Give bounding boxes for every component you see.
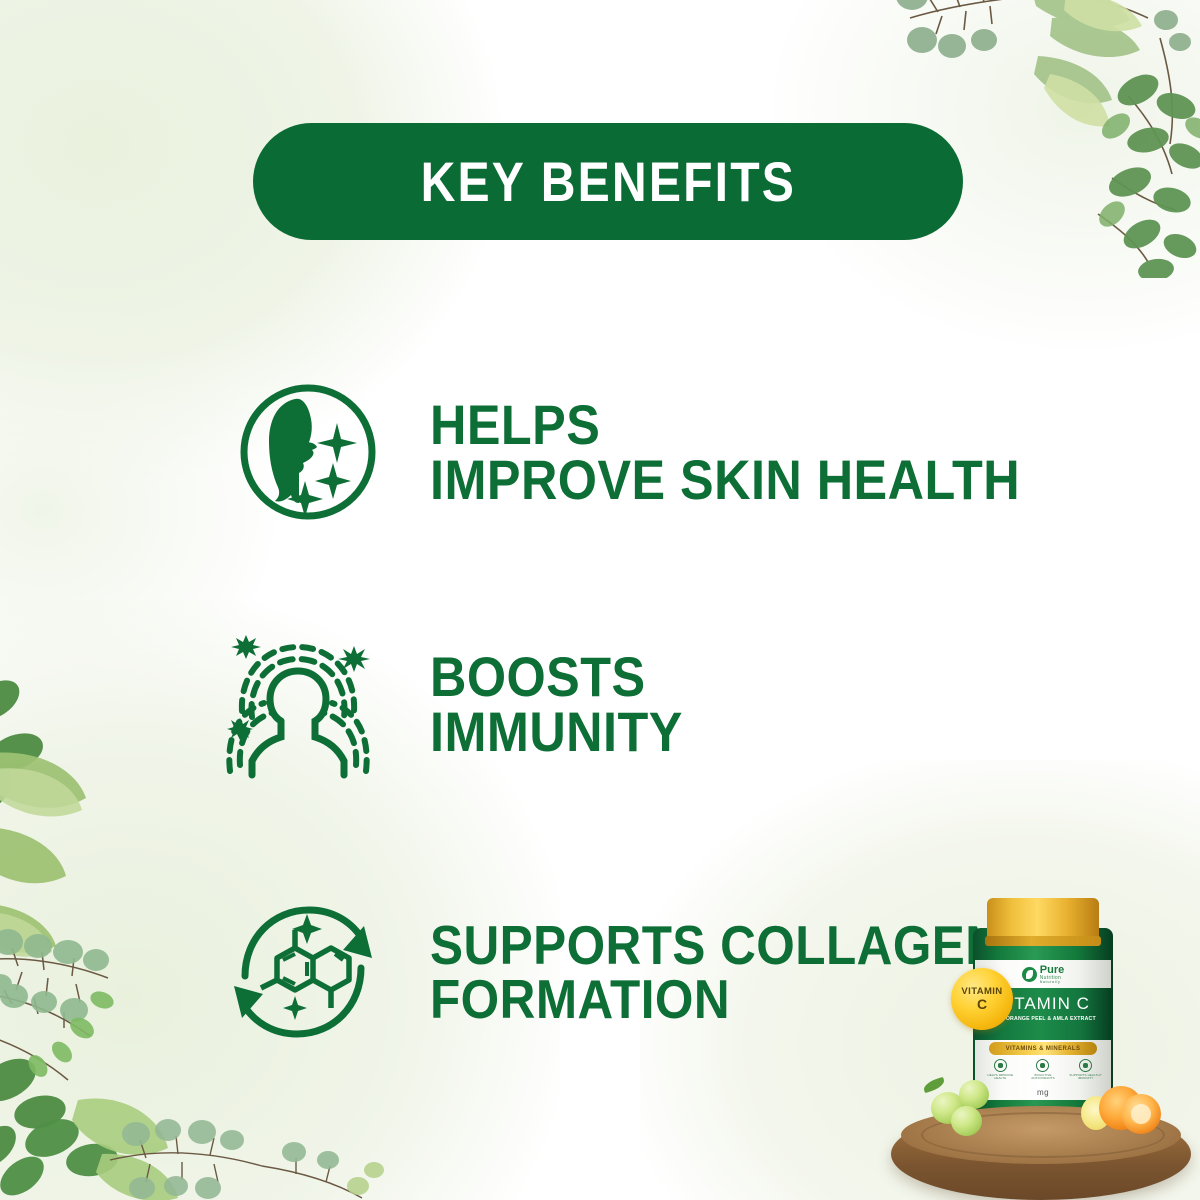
bottle-cap-rim <box>985 936 1101 946</box>
benefit-row-immunity: BOOSTS IMMUNITY <box>214 620 711 788</box>
dosage-text: mg <box>975 1088 1111 1097</box>
benefit-label-skin-health: HELPS IMPROVE SKIN HEALTH <box>430 397 1086 508</box>
bottle-cap <box>987 898 1099 940</box>
benefit-row-skin-health: HELPS IMPROVE SKIN HEALTH <box>224 368 1086 536</box>
product-shot: PureNutritionNaturally VITAMIN C WITH OR… <box>885 880 1200 1200</box>
label-feature: HELPS IMPROVE HEALTH <box>981 1059 1019 1081</box>
face-sparkle-icon <box>224 368 392 536</box>
amla-fruit <box>959 1080 989 1109</box>
feature-caption: BIOACTIVE ANTIOXIDANTS <box>1024 1074 1062 1081</box>
vitamins-minerals-badge: VITAMINS & MINERALS <box>989 1042 1097 1055</box>
feature-caption: HELPS IMPROVE HEALTH <box>981 1074 1019 1081</box>
collagen-molecule-renewal-icon <box>214 888 392 1056</box>
benefit-line-1: BOOSTS <box>430 649 683 704</box>
vitamin-c-badge: VITAMIN C <box>951 968 1013 1030</box>
page-title: KEY BENEFITS <box>420 149 795 214</box>
benefit-line-2: IMMUNITY <box>430 704 683 759</box>
orange-slice-center <box>1131 1104 1151 1124</box>
label-feature: SUPPORTS HEALTHY IMMUNITY <box>1067 1059 1105 1081</box>
label-feature: BIOACTIVE ANTIOXIDANTS <box>1024 1059 1062 1081</box>
infographic-canvas: KEY BENEFITS HELPS IMPROVE SKIN HEALTH <box>0 0 1200 1200</box>
immunity-shield-person-icon <box>214 620 392 788</box>
benefit-label-immunity: BOOSTS IMMUNITY <box>430 649 711 760</box>
brand-tagline: Naturally <box>1040 981 1064 985</box>
vitamins-minerals-text: VITAMINS & MINERALS <box>1006 1046 1081 1052</box>
immunity-icon <box>1079 1059 1092 1072</box>
feature-caption: SUPPORTS HEALTHY IMMUNITY <box>1067 1074 1105 1081</box>
leaf-logo-icon <box>1022 967 1037 982</box>
badge-line-2: C <box>977 997 987 1012</box>
amla-leaf-icon <box>922 1077 946 1093</box>
skin-health-icon <box>994 1059 1007 1072</box>
antioxidant-icon <box>1036 1059 1049 1072</box>
benefit-line-1: HELPS <box>430 397 1020 452</box>
key-benefits-banner: KEY BENEFITS <box>253 123 963 240</box>
benefit-line-2: IMPROVE SKIN HEALTH <box>430 452 1020 507</box>
amla-fruit <box>951 1106 982 1136</box>
label-feature-row: HELPS IMPROVE HEALTH BIOACTIVE ANTIOXIDA… <box>979 1059 1107 1081</box>
